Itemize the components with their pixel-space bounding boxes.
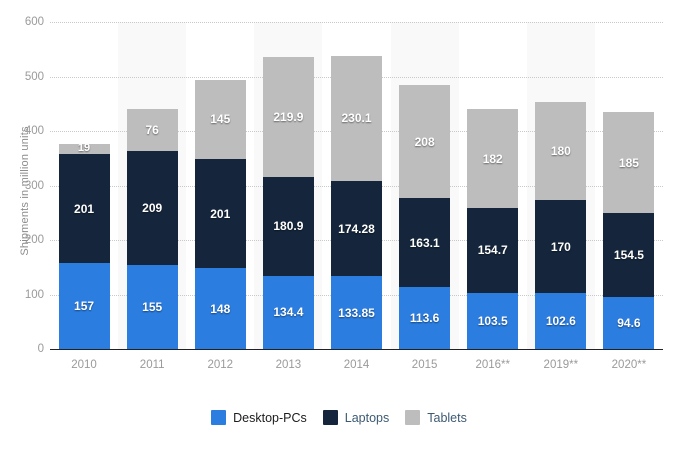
- bar-segment-laptops[interactable]: 201: [195, 159, 246, 269]
- bar-segment-tablets[interactable]: 182: [467, 109, 518, 208]
- bar-segment-laptops[interactable]: 201: [59, 154, 110, 264]
- bar-segment-tablets[interactable]: 230.1: [331, 56, 382, 181]
- x-tick-label: 2016**: [459, 359, 527, 371]
- bar-value-label: 133.85: [338, 307, 375, 319]
- bar-value-label: 154.7: [478, 244, 508, 256]
- bar-segment-laptops[interactable]: 209: [127, 151, 178, 265]
- bar-segment-laptops[interactable]: 174.28: [331, 181, 382, 276]
- bar-segment-tablets[interactable]: 219.9: [263, 57, 314, 177]
- x-tick-label: 2011: [118, 359, 186, 371]
- bar-value-label: 219.9: [273, 111, 303, 123]
- bar-value-label: 209: [142, 202, 162, 214]
- y-tick-label: 0: [4, 343, 44, 355]
- bar-value-label: 157: [74, 300, 94, 312]
- legend-swatch-icon: [405, 410, 420, 425]
- x-axis-baseline: [50, 349, 663, 350]
- bar-segment-desktop-pcs[interactable]: 157: [59, 263, 110, 349]
- bar-segment-laptops[interactable]: 180.9: [263, 177, 314, 276]
- bar-value-label: 170: [551, 241, 571, 253]
- y-tick-label: 600: [4, 16, 44, 28]
- bar-group[interactable]: 15520976: [127, 22, 178, 349]
- legend-swatch-icon: [211, 410, 226, 425]
- bar-group[interactable]: 15720119: [59, 22, 110, 349]
- bar-segment-desktop-pcs[interactable]: 148: [195, 268, 246, 349]
- x-tick-label: 2020**: [595, 359, 663, 371]
- bar-value-label: 19: [78, 143, 90, 154]
- bar-group[interactable]: 102.6170180: [535, 22, 586, 349]
- bar-value-label: 201: [74, 203, 94, 215]
- bar-value-label: 76: [145, 124, 158, 136]
- bar-segment-tablets[interactable]: 76: [127, 109, 178, 150]
- bar-value-label: 148: [210, 303, 230, 315]
- legend-item-tablets[interactable]: Tablets: [405, 410, 467, 425]
- bar-segment-laptops[interactable]: 170: [535, 200, 586, 293]
- bar-segment-desktop-pcs[interactable]: 133.85: [331, 276, 382, 349]
- x-tick-label: 2012: [186, 359, 254, 371]
- bar-segment-laptops[interactable]: 154.7: [467, 208, 518, 292]
- bar-segment-tablets[interactable]: 185: [603, 112, 654, 213]
- y-tick-label: 300: [4, 180, 44, 192]
- x-tick-label: 2013: [254, 359, 322, 371]
- bar-segment-desktop-pcs[interactable]: 113.6: [399, 287, 450, 349]
- legend-label: Tablets: [427, 411, 467, 425]
- y-tick-label: 100: [4, 289, 44, 301]
- bar-segment-desktop-pcs[interactable]: 134.4: [263, 276, 314, 349]
- bar-value-label: 185: [619, 157, 639, 169]
- bar-value-label: 145: [210, 113, 230, 125]
- bar-value-label: 134.4: [273, 306, 303, 318]
- bar-group[interactable]: 148201145: [195, 22, 246, 349]
- y-tick-label: 200: [4, 234, 44, 246]
- bar-group[interactable]: 103.5154.7182: [467, 22, 518, 349]
- bar-value-label: 163.1: [410, 237, 440, 249]
- bar-segment-desktop-pcs[interactable]: 94.6: [603, 297, 654, 349]
- bar-group[interactable]: 94.6154.5185: [603, 22, 654, 349]
- legend-label: Desktop-PCs: [233, 411, 307, 425]
- bar-value-label: 174.28: [338, 223, 375, 235]
- bar-group[interactable]: 133.85174.28230.1: [331, 22, 382, 349]
- bar-segment-desktop-pcs[interactable]: 103.5: [467, 293, 518, 349]
- bar-segment-laptops[interactable]: 163.1: [399, 198, 450, 287]
- legend-swatch-icon: [323, 410, 338, 425]
- legend-item-desktop-pcs[interactable]: Desktop-PCs: [211, 410, 307, 425]
- bar-value-label: 230.1: [341, 112, 371, 124]
- bar-value-label: 182: [483, 153, 503, 165]
- chart-legend: Desktop-PCsLaptopsTablets: [0, 410, 678, 425]
- bar-value-label: 154.5: [614, 249, 644, 261]
- bar-value-label: 113.6: [410, 312, 439, 324]
- x-tick-label: 2015: [391, 359, 459, 371]
- bar-value-label: 155: [142, 301, 162, 313]
- bar-segment-tablets[interactable]: 145: [195, 80, 246, 159]
- y-axis-tick-labels: 0100200300400500600: [0, 0, 44, 456]
- y-tick-label: 500: [4, 71, 44, 83]
- bar-segment-desktop-pcs[interactable]: 102.6: [535, 293, 586, 349]
- bar-segment-tablets[interactable]: 180: [535, 102, 586, 200]
- bar-group[interactable]: 113.6163.1208: [399, 22, 450, 349]
- bar-value-label: 180.9: [273, 220, 303, 232]
- bar-value-label: 201: [210, 208, 230, 220]
- bar-value-label: 103.5: [478, 315, 508, 327]
- bar-segment-laptops[interactable]: 154.5: [603, 213, 654, 297]
- plot-area: 1572011915520976148201145134.4180.9219.9…: [50, 22, 663, 349]
- bar-value-label: 94.6: [617, 317, 640, 329]
- bar-value-label: 208: [415, 136, 435, 148]
- x-tick-label: 2010: [50, 359, 118, 371]
- legend-label: Laptops: [345, 411, 389, 425]
- bar-segment-tablets[interactable]: 208: [399, 85, 450, 198]
- x-tick-label: 2014: [322, 359, 390, 371]
- stacked-bar-chart: Shipments in million units 0100200300400…: [0, 0, 678, 456]
- bar-value-label: 180: [551, 145, 571, 157]
- y-tick-label: 400: [4, 125, 44, 137]
- legend-item-laptops[interactable]: Laptops: [323, 410, 389, 425]
- bar-value-label: 102.6: [546, 315, 576, 327]
- bar-segment-tablets[interactable]: 19: [59, 144, 110, 154]
- bar-segment-desktop-pcs[interactable]: 155: [127, 265, 178, 349]
- bar-group[interactable]: 134.4180.9219.9: [263, 22, 314, 349]
- x-tick-label: 2019**: [527, 359, 595, 371]
